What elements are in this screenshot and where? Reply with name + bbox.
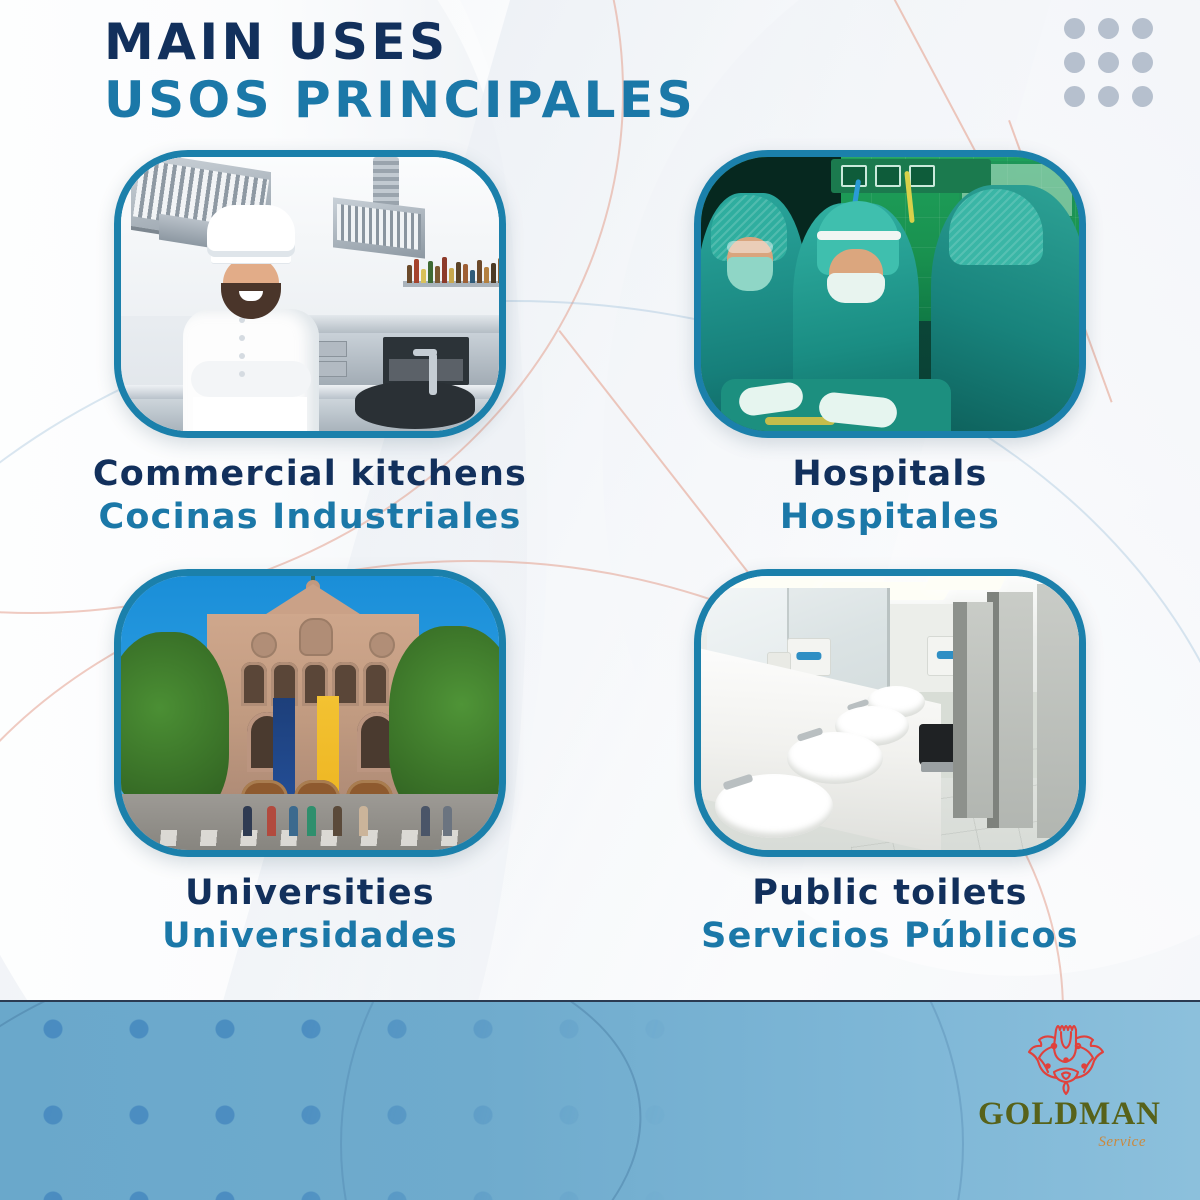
lotus-flower-icon — [1014, 1016, 1118, 1096]
caption-es: Universidades — [162, 916, 458, 957]
caption-en: Commercial kitchens — [93, 454, 527, 495]
caption-es: Servicios Públicos — [701, 916, 1079, 957]
use-case-card-public-toilets[interactable]: Public toilets Servicios Públicos — [694, 569, 1086, 956]
hospital-operating-room-photo[interactable] — [694, 150, 1086, 438]
public-toilet-photo[interactable] — [694, 569, 1086, 857]
university-building-photo[interactable] — [114, 569, 506, 857]
grid-dot — [1098, 18, 1119, 39]
footer-curve-line-2 — [340, 1000, 964, 1200]
footer-bar: GOLDMAN Service — [0, 1000, 1200, 1200]
caption-en: Universities — [162, 873, 458, 914]
page-title-en: MAIN USES — [104, 14, 696, 70]
caption-hospitals: Hospitals Hospitales — [780, 454, 1000, 537]
page-title-block: MAIN USES USOS PRINCIPALES — [104, 14, 696, 128]
caption-es: Hospitales — [780, 497, 1000, 538]
brand-tagline: Service — [978, 1134, 1154, 1151]
use-case-card-hospitals[interactable]: Hospitals Hospitales — [694, 150, 1086, 537]
infographic-poster: MAIN USES USOS PRINCIPALES — [0, 0, 1200, 1200]
caption-en: Public toilets — [701, 873, 1079, 914]
use-case-row-top: Commercial kitchens Cocinas Industriales — [0, 150, 1200, 537]
page-title-es: USOS PRINCIPALES — [104, 72, 696, 128]
caption-en: Hospitals — [780, 454, 1000, 495]
caption-commercial-kitchens: Commercial kitchens Cocinas Industriales — [93, 454, 527, 537]
caption-public-toilets: Public toilets Servicios Públicos — [701, 873, 1079, 956]
use-case-card-commercial-kitchens[interactable]: Commercial kitchens Cocinas Industriales — [114, 150, 506, 537]
caption-universities: Universities Universidades — [162, 873, 458, 956]
use-case-grid: Commercial kitchens Cocinas Industriales — [0, 150, 1200, 956]
grid-dot — [1132, 86, 1153, 107]
grid-dot — [1064, 52, 1085, 73]
commercial-kitchen-photo[interactable] — [114, 150, 506, 438]
grid-dot — [1098, 52, 1119, 73]
brand-name: GOLDMAN — [978, 1098, 1154, 1131]
use-case-row-bottom: Universities Universidades — [0, 569, 1200, 956]
dot-grid-decoration — [1064, 18, 1166, 120]
grid-dot — [1098, 86, 1119, 107]
grid-dot — [1132, 52, 1153, 73]
grid-dot — [1064, 86, 1085, 107]
brand-logo[interactable]: GOLDMAN Service — [978, 1016, 1154, 1151]
use-case-card-universities[interactable]: Universities Universidades — [114, 569, 506, 956]
caption-es: Cocinas Industriales — [93, 497, 527, 538]
grid-dot — [1064, 18, 1085, 39]
grid-dot — [1132, 18, 1153, 39]
